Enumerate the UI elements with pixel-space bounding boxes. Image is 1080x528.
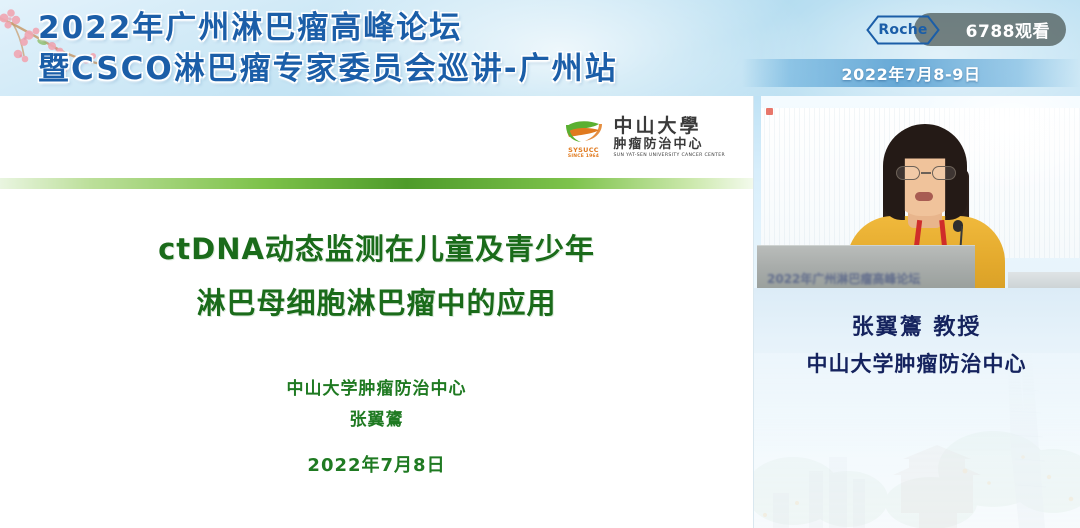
- banner-title-block: 2022年广州淋巴瘤高峰论坛 暨CSCO淋巴瘤专家委员会巡讲-广州站: [38, 8, 738, 90]
- sysucc-acronym: SYSUCC: [568, 146, 599, 154]
- viewer-count-label: 6788观看: [966, 17, 1050, 42]
- slide-date: 2022年7月8日: [0, 450, 753, 481]
- glasses-lens-left: [896, 166, 920, 180]
- sysucc-since-label: SINCE 1964: [568, 154, 599, 159]
- slide-affiliation: 中山大学肿瘤防治中心: [0, 374, 753, 405]
- speaker-info-panel: 张翼鷟 教授 中山大学肿瘤防治中心: [753, 288, 1080, 528]
- podium-secondary: [1008, 272, 1080, 288]
- roche-logo: Roche: [866, 15, 940, 45]
- roche-wordmark: Roche: [866, 15, 940, 45]
- slide-title-line-1: ctDNA动态监测在儿童及青少年: [0, 222, 753, 276]
- live-video-player[interactable]: 2022年广州淋巴瘤高峰论坛: [753, 96, 1080, 288]
- podium: 2022年广州淋巴瘤高峰论坛: [757, 245, 975, 288]
- speaker-mouth: [915, 192, 933, 201]
- recording-indicator-icon: [766, 108, 773, 115]
- slide-accent-bar: [0, 178, 753, 189]
- event-date-strip: 2022年7月8-9日: [742, 59, 1080, 87]
- event-date-label: 2022年7月8-9日: [841, 61, 980, 85]
- sysucc-center-name: 肿瘤防治中心: [614, 137, 726, 152]
- event-banner: 2022年广州淋巴瘤高峰论坛 暨CSCO淋巴瘤专家委员会巡讲-广州站 6788观…: [0, 0, 1080, 96]
- speaker-glasses-icon: [895, 166, 957, 181]
- podium-banner-text: 2022年广州淋巴瘤高峰论坛: [767, 270, 920, 287]
- glasses-lens-right: [932, 166, 956, 180]
- slide-presenter: 张翼鷟: [0, 405, 753, 436]
- banner-title-line-1: 2022年广州淋巴瘤高峰论坛: [38, 8, 738, 48]
- banner-title-line-2: 暨CSCO淋巴瘤专家委员会巡讲-广州站: [38, 48, 738, 90]
- slide-title-line-2: 淋巴母细胞淋巴瘤中的应用: [0, 276, 753, 330]
- panel-divider: [753, 96, 754, 528]
- live-stream-page: 2022年广州淋巴瘤高峰论坛 暨CSCO淋巴瘤专家委员会巡讲-广州站 6788观…: [0, 0, 1080, 528]
- right-panel: 2022年广州淋巴瘤高峰论坛: [753, 96, 1080, 528]
- sysucc-logo: SYSUCC SINCE 1964 中山大學 肿瘤防治中心 SUN YAT-SE…: [563, 116, 726, 159]
- sysucc-english-name: SUN YAT-SEN UNIVERSITY CANCER CENTER: [614, 152, 726, 159]
- slide-content: ctDNA动态监测在儿童及青少年 淋巴母细胞淋巴瘤中的应用 中山大学肿瘤防治中心…: [0, 189, 753, 481]
- presentation-slide[interactable]: SYSUCC SINCE 1964 中山大學 肿瘤防治中心 SUN YAT-SE…: [0, 96, 753, 528]
- sysucc-emblem-icon: SYSUCC SINCE 1964: [563, 117, 605, 159]
- speaker-name: 张翼鷟 教授: [753, 310, 1080, 346]
- glasses-bridge: [921, 172, 931, 174]
- speaker-organization: 中山大学肿瘤防治中心: [753, 346, 1080, 382]
- speaker-info-text: 张翼鷟 教授 中山大学肿瘤防治中心: [753, 310, 1080, 382]
- sysucc-wordmark: 中山大學 肿瘤防治中心 SUN YAT-SEN UNIVERSITY CANCE…: [614, 116, 726, 159]
- sysucc-university-name: 中山大學: [614, 116, 726, 137]
